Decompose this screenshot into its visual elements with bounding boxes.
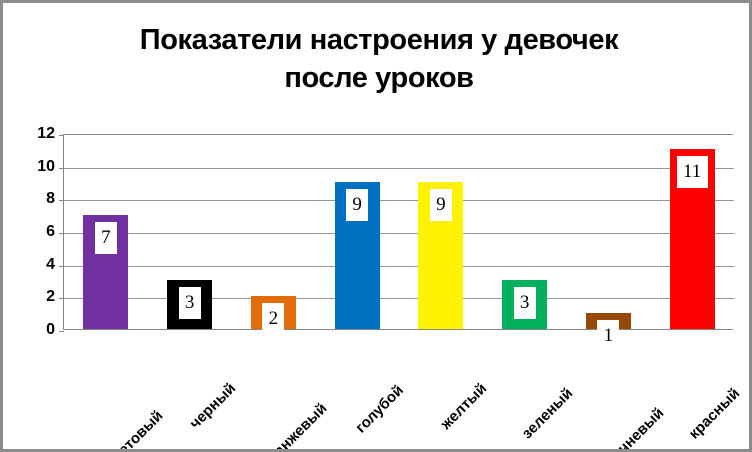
y-axis-tick [59,298,64,299]
gridline [64,233,734,234]
x-axis-label: голубой [353,383,406,436]
gridline [64,298,734,299]
chart-title: Показатели настроения у девочек после ур… [63,21,695,97]
y-axis-tick [59,233,64,234]
y-axis-label: 0 [11,322,55,338]
y-axis-tick [59,200,64,201]
y-axis-tick [59,266,64,267]
y-axis-tick [59,331,64,332]
y-axis-label: 12 [11,126,55,142]
y-axis-label: 2 [11,289,55,305]
x-axis-label: черный [187,381,238,432]
gridline [64,266,734,267]
chart-container: Показатели настроения у девочек после ур… [0,0,752,452]
bar-value-label: 11 [677,156,708,188]
y-axis-tick [59,135,64,136]
y-axis-label: 6 [11,224,55,240]
x-axis-label: оранжевый [259,401,330,452]
bar-value-label: 9 [430,189,452,221]
y-axis-label: 10 [11,159,55,175]
x-axis-label: красный [686,386,742,442]
x-axis-label: фиолетовый [87,408,166,452]
x-axis-label: коричневый [591,405,667,452]
bar-value-label: 3 [514,287,536,319]
x-axis-label: желтый [438,381,489,432]
gridline [64,168,734,169]
bar-value-label: 2 [262,303,284,335]
y-axis-label: 4 [11,257,55,273]
bar-value-label: 1 [597,320,619,352]
bar-value-label: 7 [95,222,117,254]
bar-value-label: 9 [346,189,368,221]
x-axis-label: зеленый [519,386,575,442]
plot-area: 732993111 [63,134,733,330]
bar-value-label: 3 [179,287,201,319]
y-axis-label: 8 [11,191,55,207]
gridline [64,200,734,201]
y-axis-tick [59,168,64,169]
